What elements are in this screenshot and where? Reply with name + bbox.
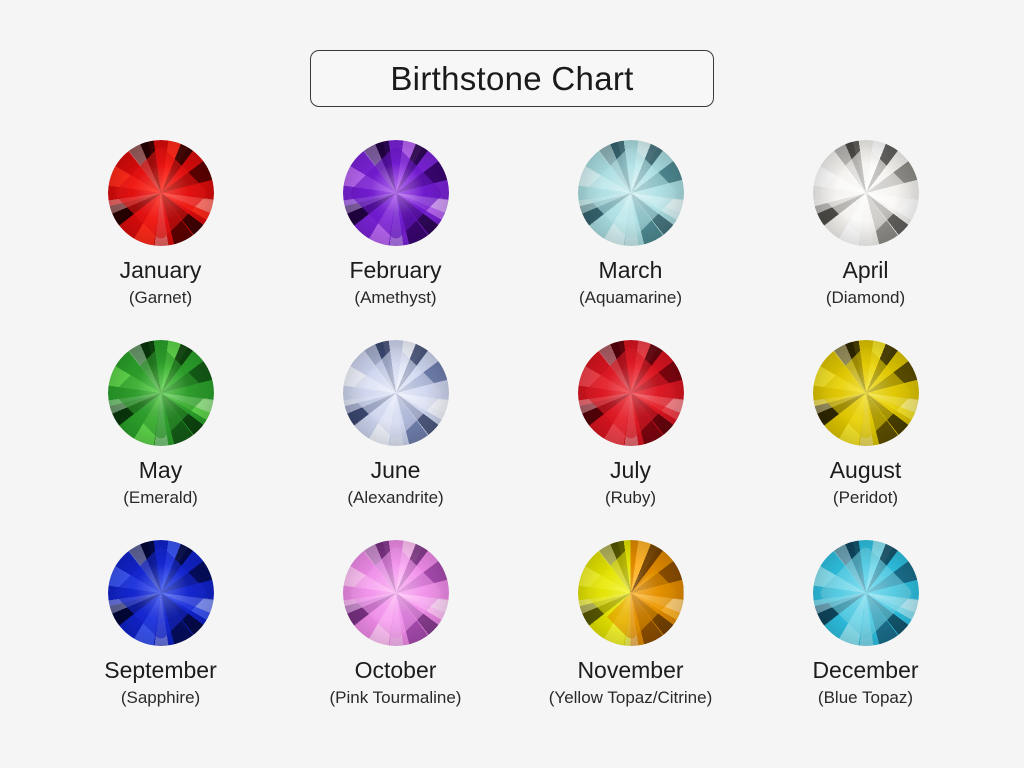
gem-wrap-may	[108, 340, 214, 446]
round-brilliant-gem-icon	[108, 140, 214, 246]
round-brilliant-gem-icon	[343, 540, 449, 646]
gem-depth-shading	[343, 140, 449, 246]
gem-depth-shading	[108, 340, 214, 446]
gem-wrap-october	[343, 540, 449, 646]
birthstone-cell-august: August(Peridot)	[748, 340, 983, 540]
stone-label-yellow-topaz-citrine: (Yellow Topaz/Citrine)	[549, 689, 712, 707]
month-label-january: January	[120, 258, 202, 282]
round-brilliant-gem-icon	[813, 140, 919, 246]
gem-depth-shading	[578, 140, 684, 246]
gem-wrap-january	[108, 140, 214, 246]
stone-label-blue-topaz: (Blue Topaz)	[818, 689, 913, 707]
month-label-june: June	[371, 458, 421, 482]
round-brilliant-gem-icon	[578, 340, 684, 446]
month-label-december: December	[812, 658, 918, 682]
gem-wrap-july	[578, 340, 684, 446]
gem-wrap-august	[813, 340, 919, 446]
month-label-may: May	[139, 458, 182, 482]
stone-label-amethyst: (Amethyst)	[354, 289, 436, 307]
month-label-october: October	[355, 658, 437, 682]
stone-label-garnet: (Garnet)	[129, 289, 192, 307]
month-label-april: April	[842, 258, 888, 282]
round-brilliant-gem-icon	[343, 340, 449, 446]
stone-label-diamond: (Diamond)	[826, 289, 905, 307]
stone-label-peridot: (Peridot)	[833, 489, 898, 507]
round-brilliant-gem-icon	[108, 540, 214, 646]
round-brilliant-gem-icon	[108, 340, 214, 446]
round-brilliant-gem-icon	[343, 140, 449, 246]
page-title: Birthstone Chart	[390, 60, 633, 98]
stone-label-aquamarine: (Aquamarine)	[579, 289, 682, 307]
month-label-september: September	[104, 658, 217, 682]
gem-depth-shading	[343, 340, 449, 446]
gem-depth-shading	[578, 540, 684, 646]
month-label-july: July	[610, 458, 651, 482]
birthstone-cell-april: April(Diamond)	[748, 140, 983, 340]
gem-wrap-june	[343, 340, 449, 446]
birthstone-cell-october: October(Pink Tourmaline)	[278, 540, 513, 740]
round-brilliant-gem-icon	[813, 540, 919, 646]
gem-depth-shading	[108, 140, 214, 246]
birthstone-cell-june: June(Alexandrite)	[278, 340, 513, 540]
round-brilliant-gem-icon	[813, 340, 919, 446]
month-label-november: November	[577, 658, 683, 682]
birthstone-cell-january: January(Garnet)	[43, 140, 278, 340]
birthstone-cell-may: May(Emerald)	[43, 340, 278, 540]
stone-label-sapphire: (Sapphire)	[121, 689, 200, 707]
birthstone-cell-march: March(Aquamarine)	[513, 140, 748, 340]
gem-depth-shading	[108, 540, 214, 646]
gem-wrap-april	[813, 140, 919, 246]
gem-depth-shading	[813, 540, 919, 646]
stone-label-pink-tourmaline: (Pink Tourmaline)	[330, 689, 462, 707]
gem-depth-shading	[578, 340, 684, 446]
month-label-august: August	[830, 458, 902, 482]
chart-title-box: Birthstone Chart	[310, 50, 714, 107]
gem-depth-shading	[813, 140, 919, 246]
birthstone-grid: January(Garnet)February(Amethyst)March(A…	[43, 140, 983, 740]
round-brilliant-gem-icon	[578, 140, 684, 246]
gem-wrap-december	[813, 540, 919, 646]
stone-label-ruby: (Ruby)	[605, 489, 656, 507]
gem-depth-shading	[343, 540, 449, 646]
gem-wrap-september	[108, 540, 214, 646]
month-label-march: March	[599, 258, 663, 282]
gem-depth-shading	[813, 340, 919, 446]
round-brilliant-gem-icon	[578, 540, 684, 646]
gem-wrap-november	[578, 540, 684, 646]
birthstone-cell-july: July(Ruby)	[513, 340, 748, 540]
birthstone-cell-november: November(Yellow Topaz/Citrine)	[513, 540, 748, 740]
stone-label-alexandrite: (Alexandrite)	[347, 489, 443, 507]
gem-wrap-february	[343, 140, 449, 246]
birthstone-cell-december: December(Blue Topaz)	[748, 540, 983, 740]
month-label-february: February	[349, 258, 441, 282]
stone-label-emerald: (Emerald)	[123, 489, 198, 507]
gem-wrap-march	[578, 140, 684, 246]
birthstone-cell-september: September(Sapphire)	[43, 540, 278, 740]
birthstone-cell-february: February(Amethyst)	[278, 140, 513, 340]
